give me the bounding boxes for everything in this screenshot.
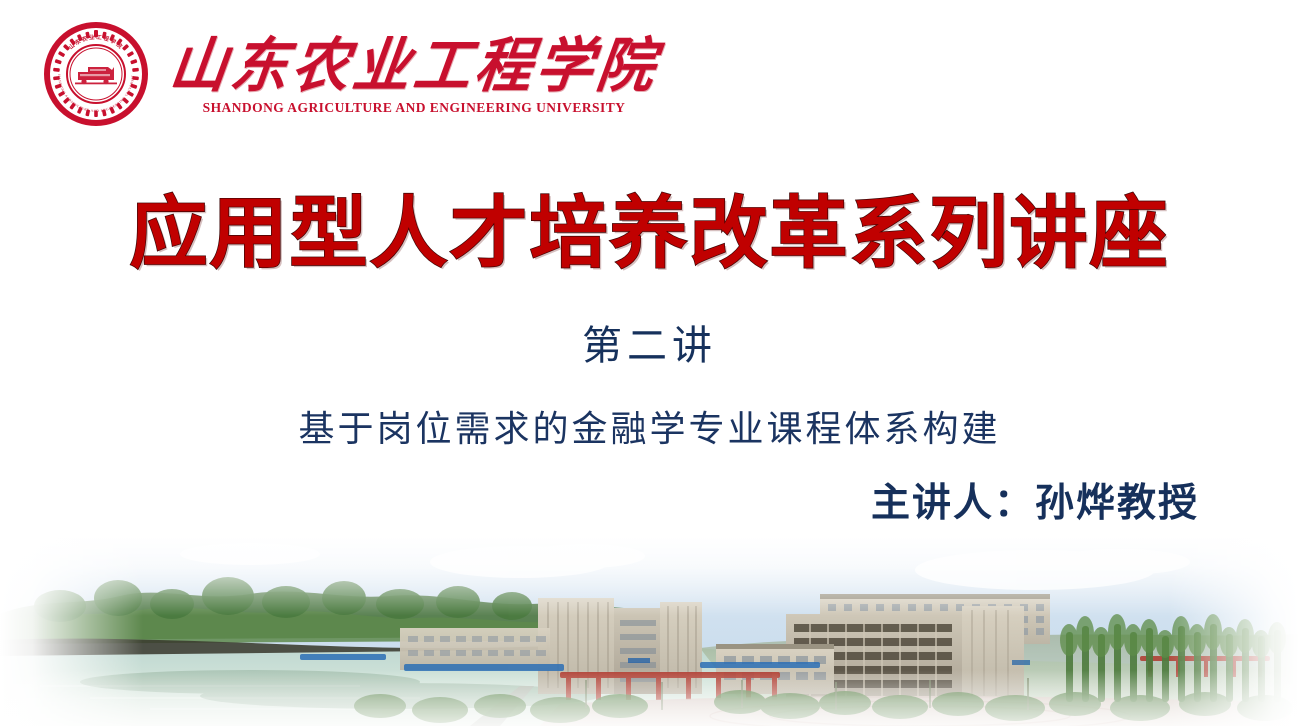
- speaker-name: 主讲人：孙烨教授: [871, 472, 1199, 528]
- university-name-group: 山东农业工程学院 SHANDONG AGRICULTURE AND ENGINE…: [170, 32, 658, 117]
- lecture-topic: 基于岗位需求的金融学专业课程体系构建: [0, 400, 1299, 452]
- page-title: 应用型人才培养改革系列讲座: [0, 192, 1299, 276]
- university-name-cn: 山东农业工程学院: [166, 34, 662, 96]
- campus-panorama-photo: [0, 536, 1299, 726]
- lecture-number: 第二讲: [0, 313, 1299, 371]
- university-seal-emblem-icon: 山东农业工程学院 SHANDONG AGRICULTURE AND ENGINE…: [44, 22, 148, 126]
- university-name-en: SHANDONG AGRICULTURE AND ENGINEERING UNI…: [203, 100, 626, 116]
- presentation-title-slide: 山东农业工程学院 SHANDONG AGRICULTURE AND ENGINE…: [0, 0, 1299, 726]
- university-logo-block: 山东农业工程学院 SHANDONG AGRICULTURE AND ENGINE…: [44, 22, 658, 126]
